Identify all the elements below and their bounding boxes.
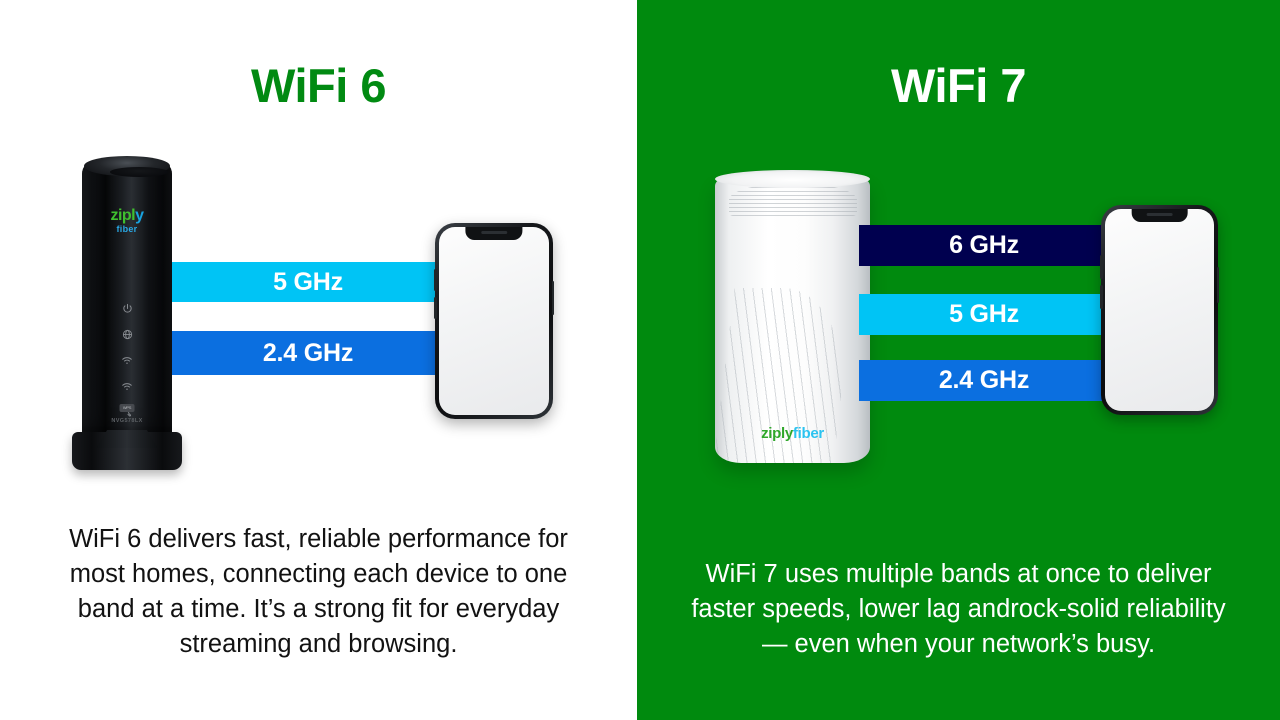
wifi7-caption: WiFi 7 uses multiple bands at once to de… (637, 557, 1280, 662)
wifi6-caption: WiFi 6 delivers fast, reliable performan… (0, 522, 637, 662)
router-top-cap (84, 156, 170, 176)
band-5ghz-label: 5 GHz (949, 300, 1019, 329)
phone-power-button[interactable] (1217, 267, 1220, 303)
router-top-cap (715, 170, 870, 188)
router-model-label: NVG578LX (82, 418, 172, 424)
band-24ghz: 2.4 GHz (172, 331, 444, 375)
logo-ziply-text: zipl (110, 207, 135, 224)
router-base (72, 432, 182, 470)
phone-volume-down-button[interactable] (434, 297, 437, 319)
ziply-fiber-logo: ziply fiber (82, 208, 172, 234)
wifi-comparison-infographic: WiFi 6 ziply fiber (0, 0, 1280, 720)
wps-button[interactable]: WPS (120, 404, 135, 412)
band-24ghz-label: 2.4 GHz (263, 339, 353, 368)
phone-power-button[interactable] (552, 281, 555, 315)
power-icon (82, 295, 172, 321)
wifi-24-icon (82, 347, 172, 373)
band-5ghz-label: 5 GHz (273, 268, 343, 297)
band-6ghz: 6 GHz (859, 225, 1109, 266)
wifi6-stage: ziply fiber (0, 0, 637, 500)
phone-frame (435, 223, 553, 419)
router-top-inner (110, 167, 168, 177)
phone-frame (1101, 205, 1218, 415)
wifi7-stage: ziplyfiber 6 GHz 5 GHz 2.4 GHz (637, 0, 1280, 500)
router-body: ziply fiber (82, 160, 172, 450)
logo-fiber-text: fiber (793, 425, 824, 442)
wifi-5-icon (82, 373, 172, 399)
logo-ziply-text: ziply (761, 425, 793, 442)
phone-volume-button[interactable] (434, 269, 437, 291)
phone-volume-button[interactable] (1100, 255, 1103, 279)
wifi6-router-image: ziply fiber (72, 150, 182, 470)
wifi6-smartphone-image (435, 223, 553, 419)
band-6ghz-label: 6 GHz (949, 231, 1019, 260)
wifi7-router-image: ziplyfiber (715, 170, 870, 470)
phone-volume-down-button[interactable] (1100, 285, 1103, 309)
band-24ghz-label: 2.4 GHz (939, 366, 1029, 395)
logo-fiber-text: fiber (82, 225, 172, 234)
router-body: ziplyfiber (715, 178, 870, 463)
phone-notch (465, 227, 522, 240)
ziply-fiber-logo: ziplyfiber (715, 426, 870, 441)
wifi7-panel: WiFi 7 ziplyfiber 6 GHz 5 GHz (637, 0, 1280, 720)
wifi7-smartphone-image (1101, 205, 1218, 415)
logo-ziply-y: y (135, 207, 143, 224)
router-base-notch (96, 430, 158, 448)
phone-screen (439, 227, 549, 415)
band-5ghz: 5 GHz (859, 294, 1109, 335)
phone-screen (1105, 209, 1214, 411)
router-vent-lines (729, 183, 857, 217)
band-5ghz: 5 GHz (172, 262, 444, 302)
phone-notch (1131, 209, 1188, 222)
wifi6-panel: WiFi 6 ziply fiber (0, 0, 637, 720)
band-24ghz: 2.4 GHz (859, 360, 1109, 401)
internet-globe-icon (82, 321, 172, 347)
